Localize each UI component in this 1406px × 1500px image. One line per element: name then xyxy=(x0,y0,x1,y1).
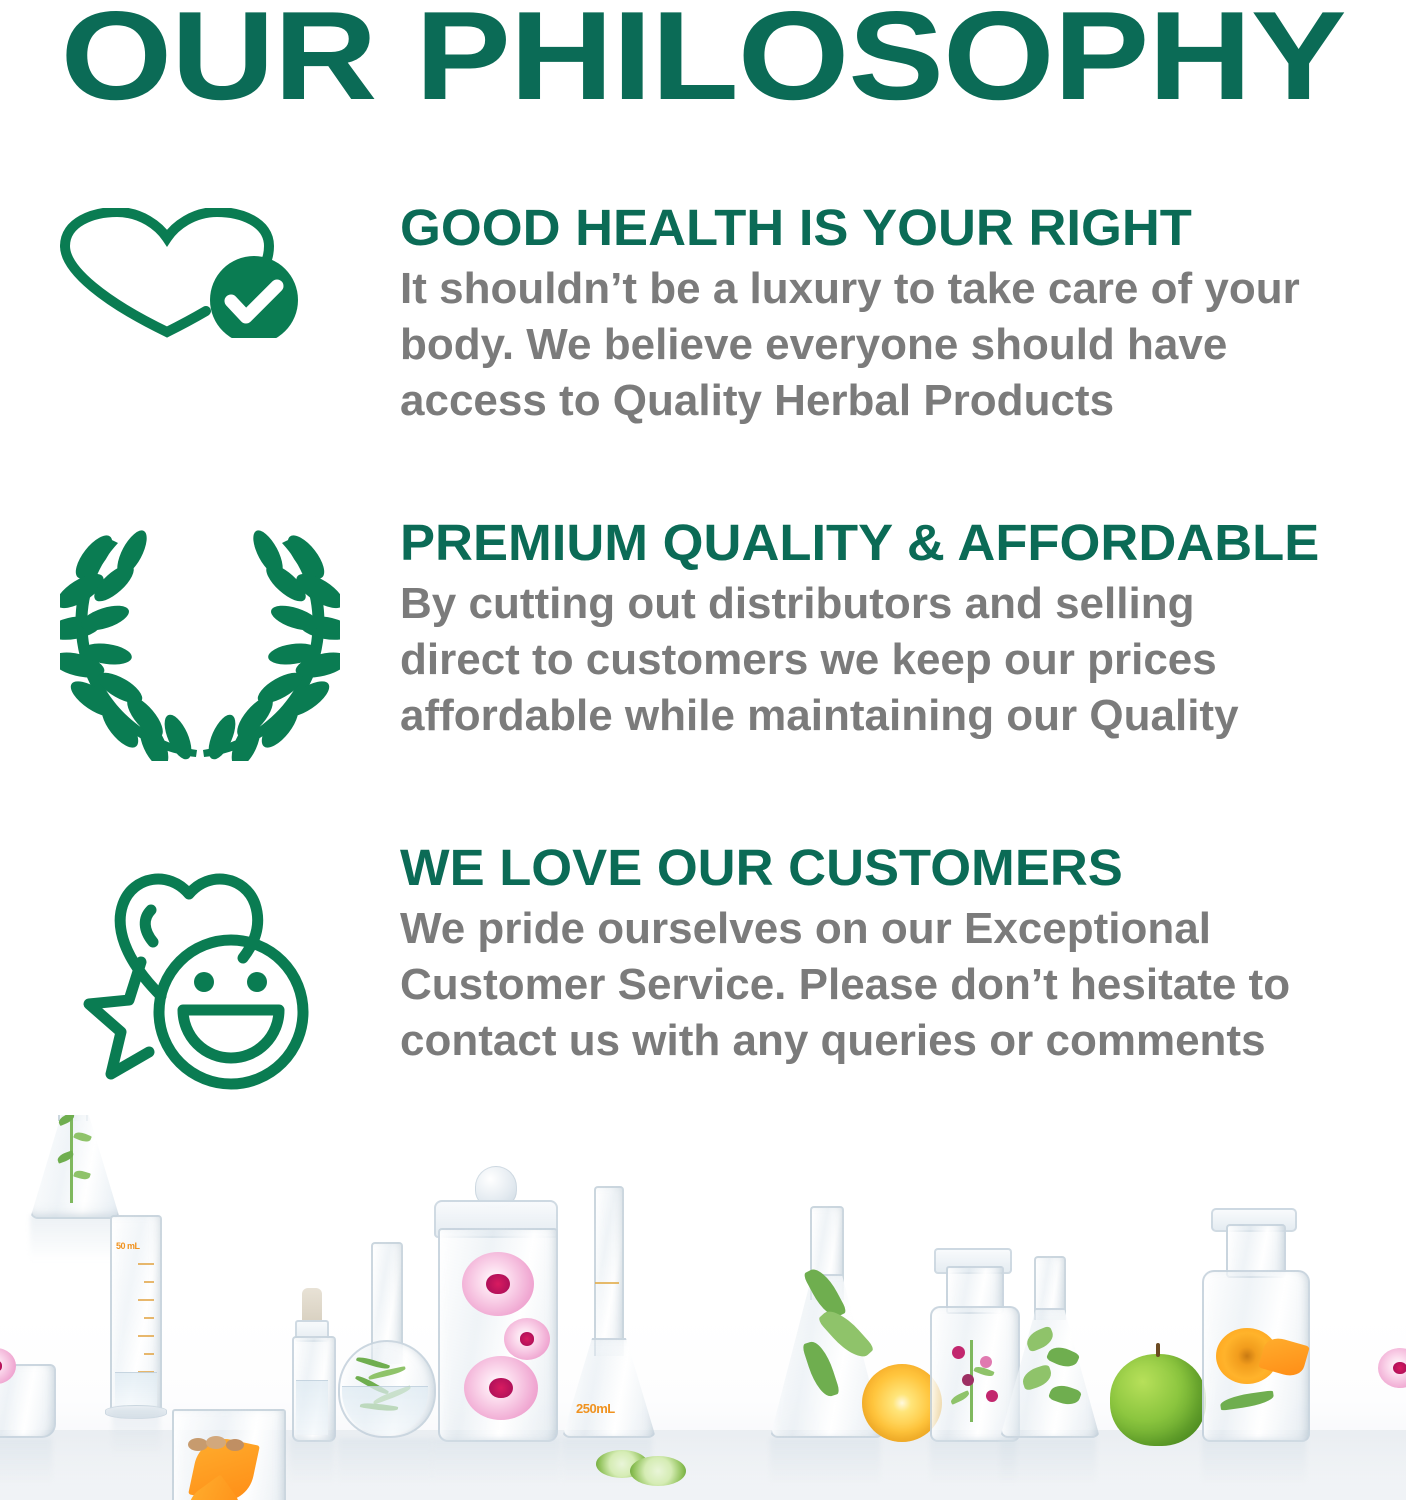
philosophy-item-1-text: GOOD HEALTH IS YOUR RIGHT It shouldn’t b… xyxy=(400,200,1406,429)
philosophy-item-1-heading: GOOD HEALTH IS YOUR RIGHT xyxy=(400,200,1395,255)
dropper-bottle xyxy=(290,1288,334,1438)
erlenmeyer-flask-thyme xyxy=(30,1115,116,1215)
volumetric-flask-250ml: 250mL xyxy=(562,1186,652,1438)
philosophy-item-2-body: By cutting out distributors and selling … xyxy=(400,576,1325,744)
cylinder-small-label: 50 mL xyxy=(116,1241,140,1251)
philosophy-item-2: PREMIUM QUALITY & AFFORDABLE By cutting … xyxy=(0,515,1406,761)
philosophy-item-3: WE LOVE OUR CUSTOMERS We pride ourselves… xyxy=(0,840,1406,1102)
philosophy-item-2-text: PREMIUM QUALITY & AFFORDABLE By cutting … xyxy=(400,515,1406,744)
lab-glassware-photo: 50 mL xyxy=(0,1115,1406,1500)
star-smiley-heart-icon-svg xyxy=(65,852,335,1102)
green-apple xyxy=(1110,1354,1206,1446)
partial-beaker-left xyxy=(0,1342,52,1438)
round-flask-greens xyxy=(338,1242,432,1438)
heart-check-icon xyxy=(0,200,400,338)
philosophy-infographic: OUR PHILOSOPHY GOOD HEALTH IS YOUR RIGHT… xyxy=(0,0,1406,1500)
philosophy-item-1: GOOD HEALTH IS YOUR RIGHT It shouldn’t b… xyxy=(0,200,1406,429)
apothecary-jar-orchids xyxy=(432,1166,560,1438)
philosophy-item-2-heading: PREMIUM QUALITY & AFFORDABLE xyxy=(400,515,1395,570)
philosophy-item-3-heading: WE LOVE OUR CUSTOMERS xyxy=(400,840,1395,895)
philosophy-item-3-text: WE LOVE OUR CUSTOMERS We pride ourselves… xyxy=(400,840,1406,1069)
laurel-wreath-icon xyxy=(0,515,400,761)
laurel-wreath-icon-svg xyxy=(60,521,340,761)
almond-nuts xyxy=(188,1436,242,1452)
heart-check-icon-svg xyxy=(55,208,345,338)
beaker-orange-slice xyxy=(172,1409,286,1500)
star-smiley-heart-icon xyxy=(0,840,400,1102)
philosophy-item-1-body: It shouldn’t be a luxury to take care of… xyxy=(400,261,1325,429)
flask-mint xyxy=(1000,1256,1096,1438)
reagent-jar-marigold xyxy=(1202,1208,1306,1438)
page-title: OUR PHILOSOPHY xyxy=(0,0,1406,120)
graduated-cylinder-small: 50 mL xyxy=(110,1215,162,1409)
philosophy-item-3-body: We pride ourselves on our Exceptional Cu… xyxy=(400,901,1350,1069)
volumetric-flask-label: 250mL xyxy=(576,1401,615,1416)
